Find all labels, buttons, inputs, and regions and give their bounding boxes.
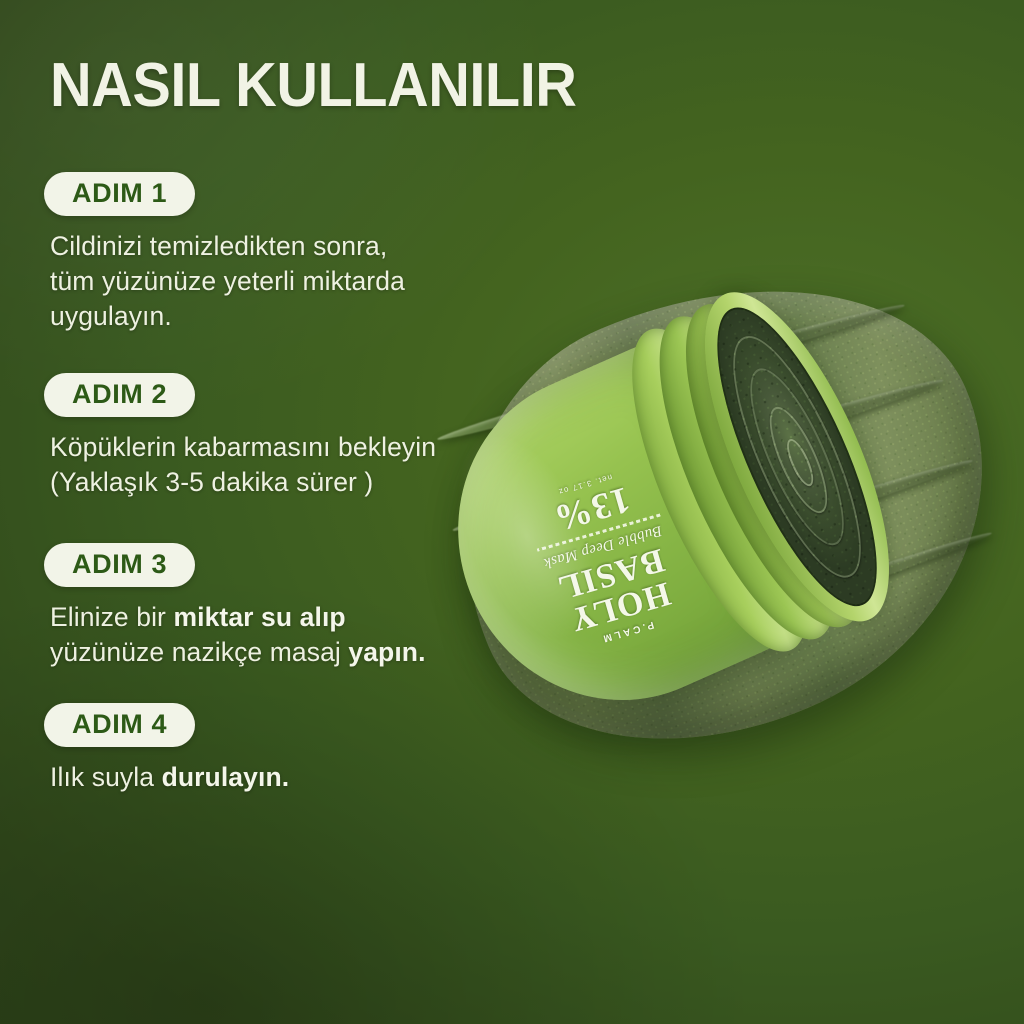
step-4-line1-bold: durulayın. [162, 762, 290, 792]
step-3-line2-bold: yapın. [348, 637, 425, 667]
instructions-panel: NASIL KULLANILIR ADIM 1 Cildinizi temizl… [0, 0, 560, 1024]
step-2-text: Köpüklerin kabarmasını bekleyin (Yaklaşı… [50, 430, 436, 500]
step-1-badge: ADIM 1 [44, 172, 195, 216]
step-3-line2-normal: yüzünüze nazikçe masaj [50, 637, 348, 667]
step-2-badge: ADIM 2 [44, 373, 195, 417]
page-title: NASIL KULLANILIR [50, 55, 576, 117]
step-4-badge: ADIM 4 [44, 703, 195, 747]
step-3-line1-normal: Elinize bir [50, 602, 173, 632]
step-3-text: Elinize bir miktar su alıpyüzünüze nazik… [50, 600, 426, 670]
step-3: ADIM 3 Elinize bir miktar su alıpyüzünüz… [44, 543, 426, 670]
step-2: ADIM 2 Köpüklerin kabarmasını bekleyin (… [44, 373, 436, 500]
step-1-text: Cildinizi temizledikten sonra, tüm yüzün… [50, 229, 405, 334]
step-1: ADIM 1 Cildinizi temizledikten sonra, tü… [44, 172, 405, 334]
step-4-text: Ilık suyla durulayın. [50, 760, 289, 795]
step-4-line1-normal: Ilık suyla [50, 762, 162, 792]
step-3-line1-bold: miktar su alıp [173, 602, 345, 632]
step-4: ADIM 4 Ilık suyla durulayın. [44, 703, 289, 795]
step-3-badge: ADIM 3 [44, 543, 195, 587]
